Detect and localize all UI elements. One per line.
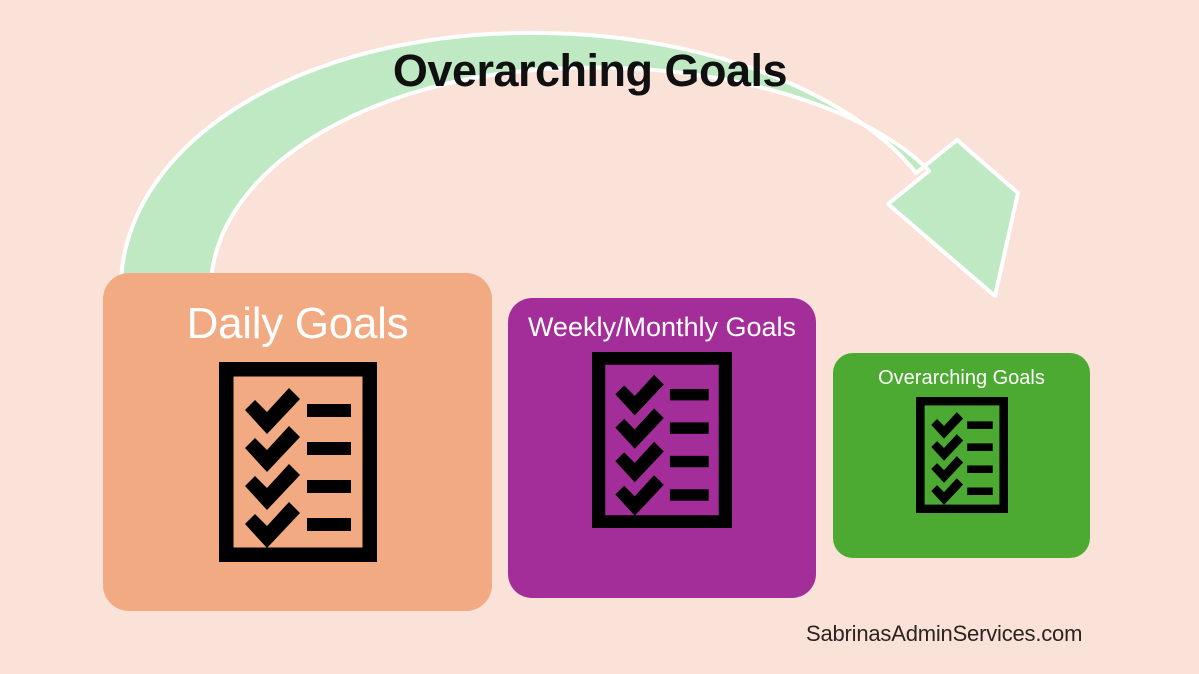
checklist-icon bbox=[916, 397, 1008, 513]
checklist-icon bbox=[592, 352, 732, 528]
checklist-icon-wrapper-weekly bbox=[592, 352, 732, 528]
card-weekly-monthly-goals[interactable]: Weekly/Monthly Goals bbox=[508, 298, 816, 598]
card-daily-goals[interactable]: Daily Goals bbox=[103, 273, 492, 611]
watermark-text: SabrinasAdminServices.com bbox=[806, 621, 1082, 647]
card-overarching-goals-label: Overarching Goals bbox=[833, 367, 1090, 389]
checklist-icon-wrapper-overarching bbox=[916, 397, 1008, 513]
card-daily-goals-label: Daily Goals bbox=[103, 299, 492, 348]
arrow-label: Overarching Goals bbox=[300, 45, 880, 97]
checklist-icon bbox=[219, 362, 377, 562]
card-overarching-goals[interactable]: Overarching Goals bbox=[833, 353, 1090, 558]
checklist-icon-wrapper-daily bbox=[219, 362, 377, 562]
infographic-canvas: Overarching Goals Daily Goals Weekly bbox=[0, 0, 1199, 674]
card-weekly-monthly-goals-label: Weekly/Monthly Goals bbox=[508, 312, 816, 342]
